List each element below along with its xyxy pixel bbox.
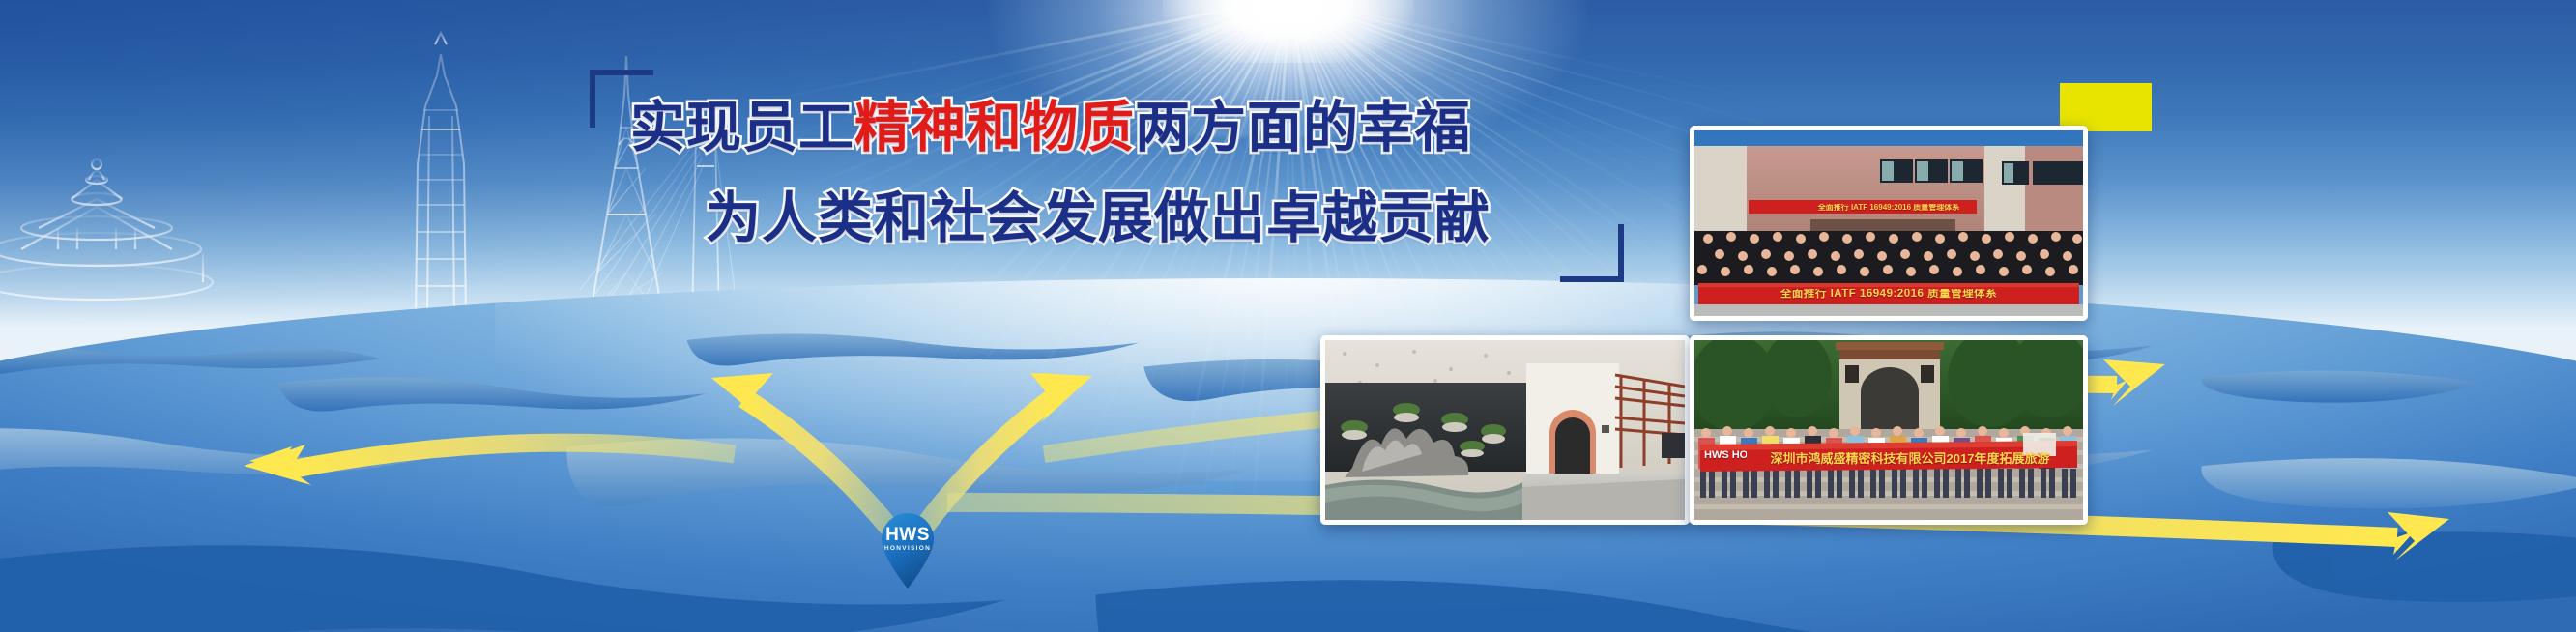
- photo-staff-group-iatf[interactable]: 全面推行 IATF 16949:2016 质量管理体系 全面推行 IATF 16…: [1690, 126, 2088, 321]
- pin-logo-wordmark: HONVISION: [878, 546, 938, 553]
- photo-garden-courtyard[interactable]: [1320, 335, 1690, 525]
- photo-outing-group[interactable]: 深圳市鸿威盛精密科技有限公司2017年度拓展旅游 HWS HONVISION: [1690, 335, 2088, 525]
- pin-logo-mark: HWS: [878, 526, 938, 544]
- pin-logo-text: HWS HONVISION: [878, 526, 938, 553]
- photo-c-banner-text: 深圳市鸿威盛精密科技有限公司2017年度拓展旅游: [1694, 452, 2083, 465]
- continents-layer: [0, 278, 2576, 632]
- photo-outing-group-image: [1694, 340, 2083, 520]
- slogan-line-1: 实现员工精神和物质两方面的幸福: [630, 101, 1471, 156]
- bracket-bottom-right-icon: [1560, 224, 1624, 282]
- yellow-accent-block: [2060, 83, 2152, 131]
- jin-mao-tower-icon: [416, 29, 466, 319]
- slogan-block: 实现员工精神和物质两方面的幸福 为人类和社会发展做出卓越贡献: [590, 70, 1624, 282]
- photo-a-building-banner-text: 全面推行 IATF 16949:2016 质量管理体系: [1694, 204, 2083, 212]
- slogan-line1-part2: 两方面的幸福: [1135, 96, 1471, 159]
- photo-a-banner-text: 全面推行 IATF 16949:2016 质量管理体系: [1694, 289, 2083, 301]
- slogan-line1-highlight: 精神和物质: [854, 96, 1135, 159]
- photo-garden-courtyard-image: [1325, 340, 1685, 520]
- company-map-pin-logo[interactable]: HWS HONVISION: [878, 510, 938, 589]
- company-culture-banner: HWS HONVISION 实现员工精神和物质两方面的幸福 为人类和社会发展做出…: [0, 0, 2576, 632]
- slogan-line1-part1: 实现员工: [630, 96, 854, 159]
- globe-graphic: [0, 278, 2576, 632]
- slogan-line-2: 为人类和社会发展做出卓越贡献: [706, 191, 1491, 246]
- photo-c-banner-logo: HWS HONVISION: [1704, 450, 1747, 461]
